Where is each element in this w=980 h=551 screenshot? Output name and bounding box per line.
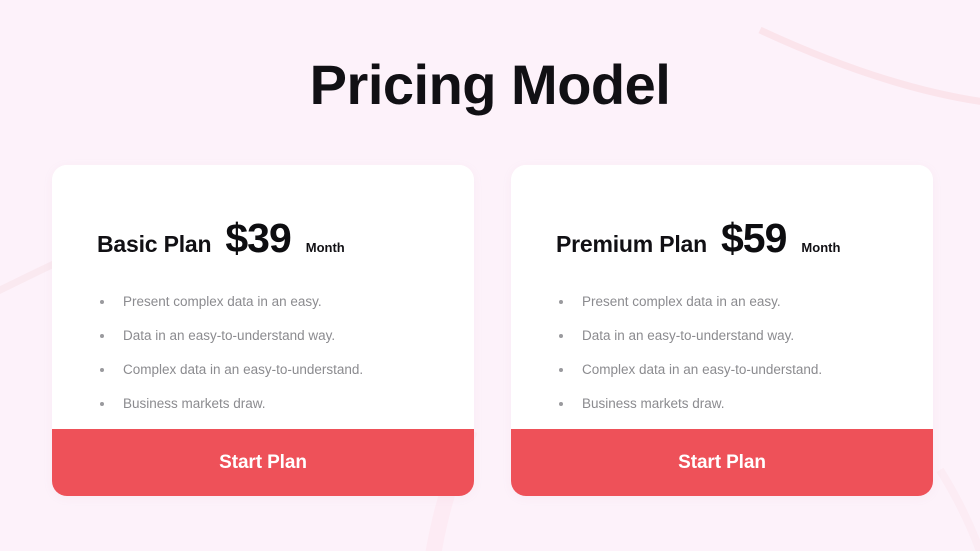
plan-period-basic: Month [306,240,345,255]
feature-item: Data in an easy-to-understand way. [559,327,933,345]
plan-price-premium: $59 [721,215,786,262]
page-title: Pricing Model [0,52,980,117]
pricing-card-premium-body: Premium Plan $59 Month Present complex d… [511,165,933,429]
plan-name-basic: Basic Plan [97,231,211,258]
feature-item: Business markets draw. [100,395,474,413]
feature-item: Present complex data in an easy. [559,293,933,311]
pricing-card-premium: Premium Plan $59 Month Present complex d… [511,165,933,496]
bullet-icon [559,368,563,372]
start-plan-button-basic[interactable]: Start Plan [52,429,474,496]
feature-list-premium: Present complex data in an easy. Data in… [511,262,933,413]
feature-text: Present complex data in an easy. [123,293,322,311]
deco-arc-bottom-right [940,470,980,551]
pricing-card-basic-body: Basic Plan $39 Month Present complex dat… [52,165,474,429]
pricing-card-basic: Basic Plan $39 Month Present complex dat… [52,165,474,496]
feature-item: Complex data in an easy-to-understand. [559,361,933,379]
feature-text: Present complex data in an easy. [582,293,781,311]
plan-period-premium: Month [801,240,840,255]
plan-price-basic: $39 [225,215,290,262]
bullet-icon [100,402,104,406]
feature-text: Business markets draw. [123,395,266,413]
feature-text: Complex data in an easy-to-understand. [582,361,822,379]
bullet-icon [100,334,104,338]
feature-item: Complex data in an easy-to-understand. [100,361,474,379]
pricing-cards-container: Basic Plan $39 Month Present complex dat… [52,165,933,496]
feature-text: Data in an easy-to-understand way. [123,327,335,345]
feature-item: Data in an easy-to-understand way. [100,327,474,345]
feature-list-basic: Present complex data in an easy. Data in… [52,262,474,413]
bullet-icon [100,368,104,372]
plan-header-premium: Premium Plan $59 Month [511,165,933,262]
feature-text: Business markets draw. [582,395,725,413]
plan-header-basic: Basic Plan $39 Month [52,165,474,262]
feature-text: Data in an easy-to-understand way. [582,327,794,345]
feature-item: Business markets draw. [559,395,933,413]
feature-item: Present complex data in an easy. [100,293,474,311]
bullet-icon [559,300,563,304]
start-plan-button-premium[interactable]: Start Plan [511,429,933,496]
bullet-icon [100,300,104,304]
feature-text: Complex data in an easy-to-understand. [123,361,363,379]
bullet-icon [559,402,563,406]
plan-name-premium: Premium Plan [556,231,707,258]
bullet-icon [559,334,563,338]
